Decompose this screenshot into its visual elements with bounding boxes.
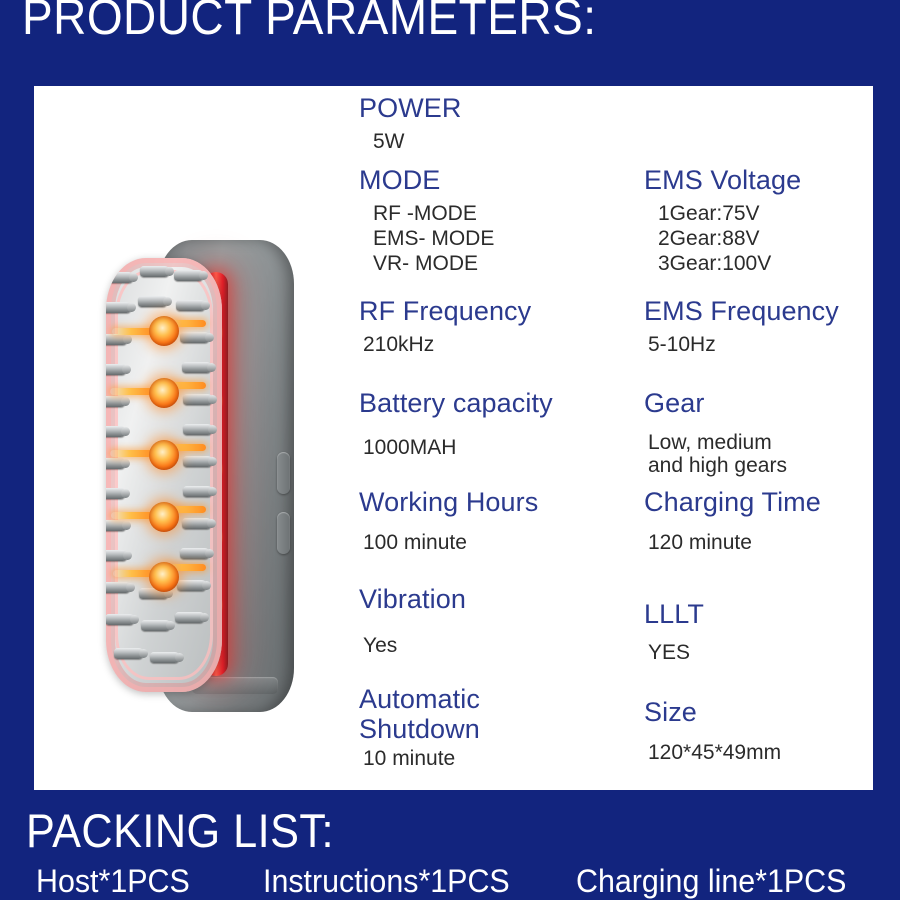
spec-item-ems-frequency: EMS Frequency 5-10Hz	[644, 295, 884, 357]
packing-item: Host*1PCS	[36, 862, 190, 900]
spec-label: EMS Frequency	[644, 295, 884, 327]
spec-item-vibration: Vibration Yes	[359, 583, 629, 658]
spec-item-power: POWER 5W	[359, 92, 629, 154]
spec-value: 120 minute	[644, 530, 884, 555]
page-title: PRODUCT PARAMETERS:	[22, 0, 596, 46]
spec-item-automatic-shutdown: Automatic Shutdown 10 minute	[359, 684, 629, 771]
spec-value: YES	[644, 640, 884, 665]
spec-value: Low, medium and high gears	[644, 431, 884, 477]
led-light	[149, 562, 179, 592]
spec-label: LLLT	[644, 598, 884, 630]
spec-item-lllt: LLLT YES	[644, 598, 884, 665]
spec-item-gear: Gear Low, medium and high gears	[644, 387, 884, 477]
spec-item-ems-voltage: EMS Voltage 1Gear:75V 2Gear:88V 3Gear:10…	[644, 164, 884, 276]
spec-value: 100 minute	[359, 530, 629, 555]
spec-value: RF -MODE EMS- MODE VR- MODE	[359, 201, 629, 276]
spec-label: Charging Time	[644, 486, 884, 518]
spec-value: 120*45*49mm	[644, 740, 884, 765]
spec-panel: POWER 5W MODE RF -MODE EMS- MODE VR- MOD…	[34, 86, 873, 790]
spec-item-battery-capacity: Battery capacity 1000MAH	[359, 387, 629, 460]
product-image	[56, 146, 326, 726]
spec-item-size: Size 120*45*49mm	[644, 696, 884, 765]
spec-value: 10 minute	[359, 746, 629, 771]
spec-value: 210kHz	[359, 332, 629, 357]
device-illustration	[100, 236, 296, 716]
spec-label: Gear	[644, 387, 884, 419]
packing-item: Charging line*1PCS	[576, 862, 846, 900]
spec-label: MODE	[359, 164, 629, 196]
spec-grid: POWER 5W MODE RF -MODE EMS- MODE VR- MOD…	[325, 86, 873, 790]
brush-plate	[106, 258, 222, 692]
spec-label: POWER	[359, 92, 629, 124]
device-button-lower	[277, 512, 290, 554]
spec-label: Size	[644, 696, 884, 728]
spec-label: Battery capacity	[359, 387, 629, 419]
spec-value: 5-10Hz	[644, 332, 884, 357]
led-light	[149, 440, 179, 470]
spec-value: 1000MAH	[359, 435, 629, 460]
spec-label: Vibration	[359, 583, 629, 615]
spec-value: 5W	[359, 129, 629, 154]
packing-list-title: PACKING LIST:	[26, 803, 334, 859]
led-light	[149, 502, 179, 532]
led-light	[149, 378, 179, 408]
spec-item-working-hours: Working Hours 100 minute	[359, 486, 629, 555]
spec-value: Yes	[359, 633, 629, 658]
spec-item-mode: MODE RF -MODE EMS- MODE VR- MODE	[359, 164, 629, 276]
product-parameters-page: PRODUCT PARAMETERS:	[0, 0, 900, 900]
spec-label: Automatic Shutdown	[359, 684, 629, 744]
spec-value: 1Gear:75V 2Gear:88V 3Gear:100V	[644, 201, 884, 276]
spec-label: EMS Voltage	[644, 164, 884, 196]
spec-item-rf-frequency: RF Frequency 210kHz	[359, 295, 629, 357]
spec-label: Working Hours	[359, 486, 629, 518]
led-light	[149, 316, 179, 346]
spec-label: RF Frequency	[359, 295, 629, 327]
packing-list-items: Host*1PCS Instructions*1PCS Charging lin…	[0, 862, 900, 900]
spec-item-charging-time: Charging Time 120 minute	[644, 486, 884, 555]
packing-item: Instructions*1PCS	[263, 862, 510, 900]
device-button-upper	[277, 452, 290, 494]
